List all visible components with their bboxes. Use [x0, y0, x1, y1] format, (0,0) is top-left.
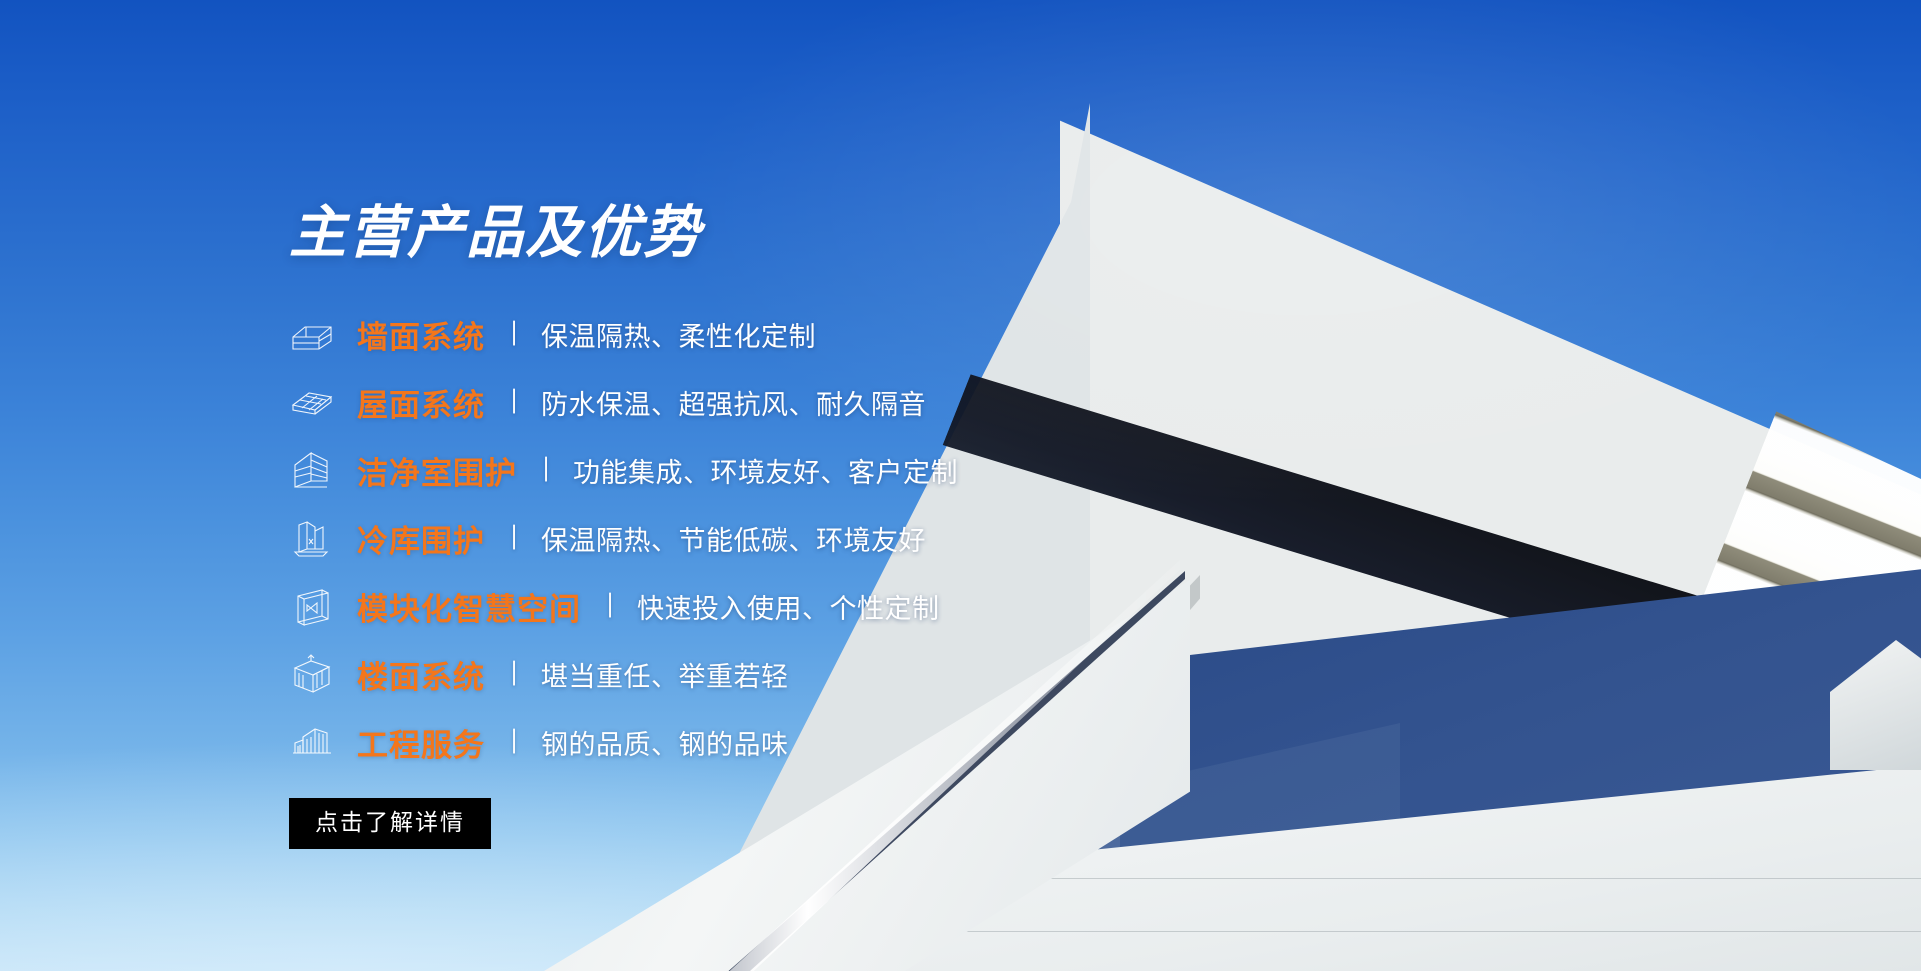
roof-panel-icon: [289, 379, 335, 425]
wall-frame-icon: [289, 311, 335, 357]
product-category: 冷库围护: [357, 516, 485, 561]
list-item[interactable]: 洁净室围护 丨 功能集成、环境友好、客户定制: [289, 436, 1109, 504]
engineering-service-icon: [289, 719, 335, 765]
floor-system-icon: [289, 651, 335, 697]
separator: 丨: [602, 593, 618, 619]
separator: 丨: [506, 525, 522, 551]
cleanroom-building-icon: [289, 447, 335, 493]
product-category: 洁净室围护: [357, 448, 517, 493]
product-category: 工程服务: [357, 720, 485, 765]
product-description: 钢的品质、钢的品味: [541, 723, 789, 762]
separator: 丨: [506, 729, 522, 755]
list-item[interactable]: 楼面系统 丨 堪当重任、举重若轻: [289, 640, 1109, 708]
product-description: 保温隔热、柔性化定制: [541, 315, 816, 354]
list-item[interactable]: 屋面系统 丨 防水保温、超强抗风、耐久隔音: [289, 368, 1109, 436]
product-description: 保温隔热、节能低碳、环境友好: [541, 519, 926, 558]
page-title: 主营产品及优势: [289, 205, 702, 262]
product-category: 屋面系统: [357, 380, 485, 425]
product-description: 堪当重任、举重若轻: [541, 655, 789, 694]
separator: 丨: [506, 661, 522, 687]
hero-banner: 主营产品及优势 墙面系统 丨 保温隔热、柔性化定制: [0, 0, 1921, 971]
product-description: 功能集成、环境友好、客户定制: [573, 451, 958, 490]
list-item[interactable]: 冷库围护 丨 保温隔热、节能低碳、环境友好: [289, 504, 1109, 572]
learn-more-button[interactable]: 点击了解详情: [289, 798, 491, 849]
product-description: 防水保温、超强抗风、耐久隔音: [541, 383, 926, 422]
separator: 丨: [506, 321, 522, 347]
product-category: 模块化智慧空间: [357, 584, 581, 629]
cold-storage-icon: [289, 515, 335, 561]
modular-cube-icon: [289, 583, 335, 629]
product-description: 快速投入使用、个性定制: [637, 587, 940, 626]
list-item[interactable]: 墙面系统 丨 保温隔热、柔性化定制: [289, 300, 1109, 368]
product-category: 墙面系统: [357, 312, 485, 357]
product-category: 楼面系统: [357, 652, 485, 697]
separator: 丨: [506, 389, 522, 415]
list-item[interactable]: 工程服务 丨 钢的品质、钢的品味: [289, 708, 1109, 776]
hero-content: 主营产品及优势 墙面系统 丨 保温隔热、柔性化定制: [0, 0, 1100, 971]
list-item[interactable]: 模块化智慧空间 丨 快速投入使用、个性定制: [289, 572, 1109, 640]
separator: 丨: [538, 457, 554, 483]
product-list: 墙面系统 丨 保温隔热、柔性化定制 屋面系统: [289, 300, 1109, 776]
